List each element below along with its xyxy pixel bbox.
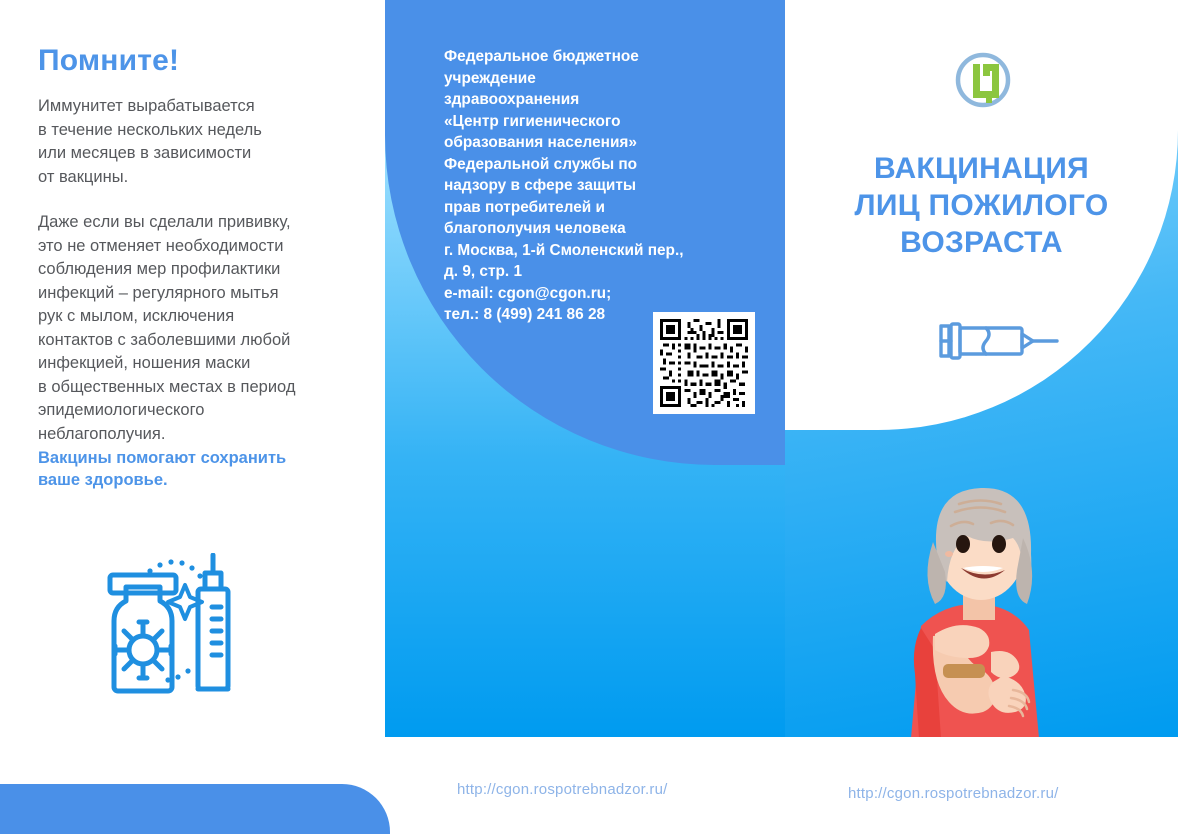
cgon-logo-icon: [953, 50, 1013, 110]
page-title-vaccination: ВАКЦИНАЦИЯ ЛИЦ ПОЖИЛОГО ВОЗРАСТА: [785, 150, 1178, 261]
left-panel: Помните! Иммунитет вырабатывается в тече…: [0, 0, 385, 834]
syringe-icon: [929, 312, 1065, 376]
url-link-middle-outer[interactable]: http://cgon.rospotrebnadzor.ru/: [457, 781, 668, 798]
vaccine-vial-syringe-icon: [78, 553, 248, 713]
bottom-left-accent-bar: [0, 784, 390, 834]
left-paragraph-2: Даже если вы сделали прививку, это не от…: [38, 211, 358, 446]
left-paragraph-1: Иммунитет вырабатывается в течение неско…: [38, 95, 358, 189]
left-body-text: Иммунитет вырабатывается в течение неско…: [38, 95, 358, 468]
brochure-page: Помните! Иммунитет вырабатывается в тече…: [0, 0, 1178, 834]
organization-info-text: Федеральное бюджетное учреждение здравоо…: [444, 46, 749, 326]
left-accent-text: Вакцины помогают сохранить ваше здоровье…: [38, 447, 358, 491]
url-link-right[interactable]: http://cgon.rospotrebnadzor.ru/: [848, 785, 1059, 802]
right-panel: ВАКЦИНАЦИЯ ЛИЦ ПОЖИЛОГО ВОЗРАСТА: [785, 0, 1178, 737]
qr-code-icon: [653, 312, 755, 414]
page-title-remember: Помните!: [38, 44, 179, 78]
elderly-woman-with-bandage-illustration: [863, 476, 1133, 737]
